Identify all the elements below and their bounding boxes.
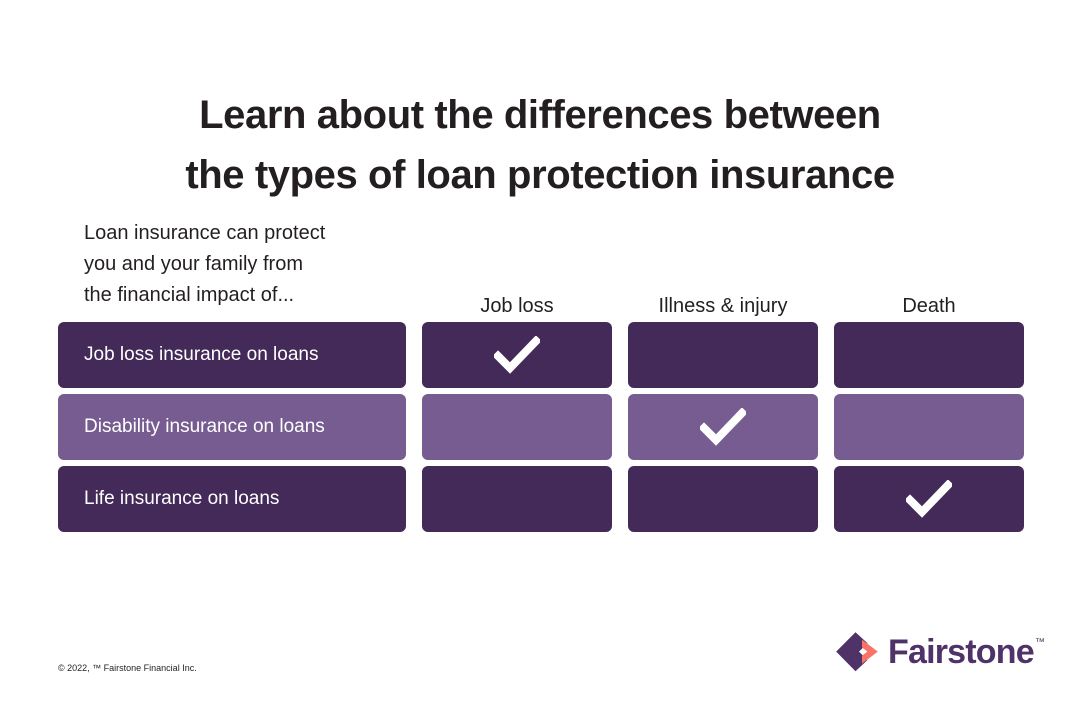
cell-life-insurance-illness-injury <box>628 466 818 532</box>
page-title-line-2: the types of loan protection insurance <box>60 145 1020 205</box>
checkmark-icon <box>700 408 746 446</box>
trademark-symbol: ™ <box>1035 637 1045 649</box>
row-label-life-insurance: Life insurance on loans <box>58 466 406 532</box>
page-title: Learn about the differences between the … <box>60 85 1020 205</box>
table-row: Disability insurance on loans <box>58 394 1020 460</box>
cell-job-loss-insurance-illness-injury <box>628 322 818 388</box>
fairstone-wordmark: Fairstone ™ <box>888 635 1045 669</box>
row-label-text: Life insurance on loans <box>58 487 291 511</box>
intro-text-line-1: Loan insurance can protect <box>84 218 404 249</box>
fairstone-diamond-icon <box>834 631 880 673</box>
cell-disability-insurance-job-loss <box>422 394 612 460</box>
fairstone-wordmark-text: Fairstone <box>888 635 1034 669</box>
fairstone-logo: Fairstone ™ <box>834 629 1026 675</box>
page-title-line-1: Learn about the differences between <box>60 85 1020 145</box>
column-header-job-loss: Job loss <box>422 294 612 322</box>
cell-life-insurance-job-loss <box>422 466 612 532</box>
checkmark-icon <box>494 336 540 374</box>
copyright-text: © 2022, ™ Fairstone Financial Inc. <box>58 662 197 674</box>
checkmark-icon <box>906 480 952 518</box>
cell-job-loss-insurance-death <box>834 322 1024 388</box>
infographic-page: Learn about the differences between the … <box>0 0 1080 720</box>
column-header-death: Death <box>834 294 1024 322</box>
row-label-disability-insurance: Disability insurance on loans <box>58 394 406 460</box>
cell-disability-insurance-illness-injury <box>628 394 818 460</box>
cell-life-insurance-death <box>834 466 1024 532</box>
row-label-job-loss-insurance: Job loss insurance on loans <box>58 322 406 388</box>
comparison-matrix: Job loss Illness & injury Death Job loss… <box>58 278 1020 532</box>
intro-text-line-2: you and your family from <box>84 249 404 280</box>
row-label-text: Job loss insurance on loans <box>58 343 330 367</box>
matrix-header-row: Job loss Illness & injury Death <box>58 278 1020 322</box>
table-row: Life insurance on loans <box>58 466 1020 532</box>
table-row: Job loss insurance on loans <box>58 322 1020 388</box>
column-header-illness-injury: Illness & injury <box>628 294 818 322</box>
cell-job-loss-insurance-job-loss <box>422 322 612 388</box>
cell-disability-insurance-death <box>834 394 1024 460</box>
row-label-text: Disability insurance on loans <box>58 415 337 439</box>
